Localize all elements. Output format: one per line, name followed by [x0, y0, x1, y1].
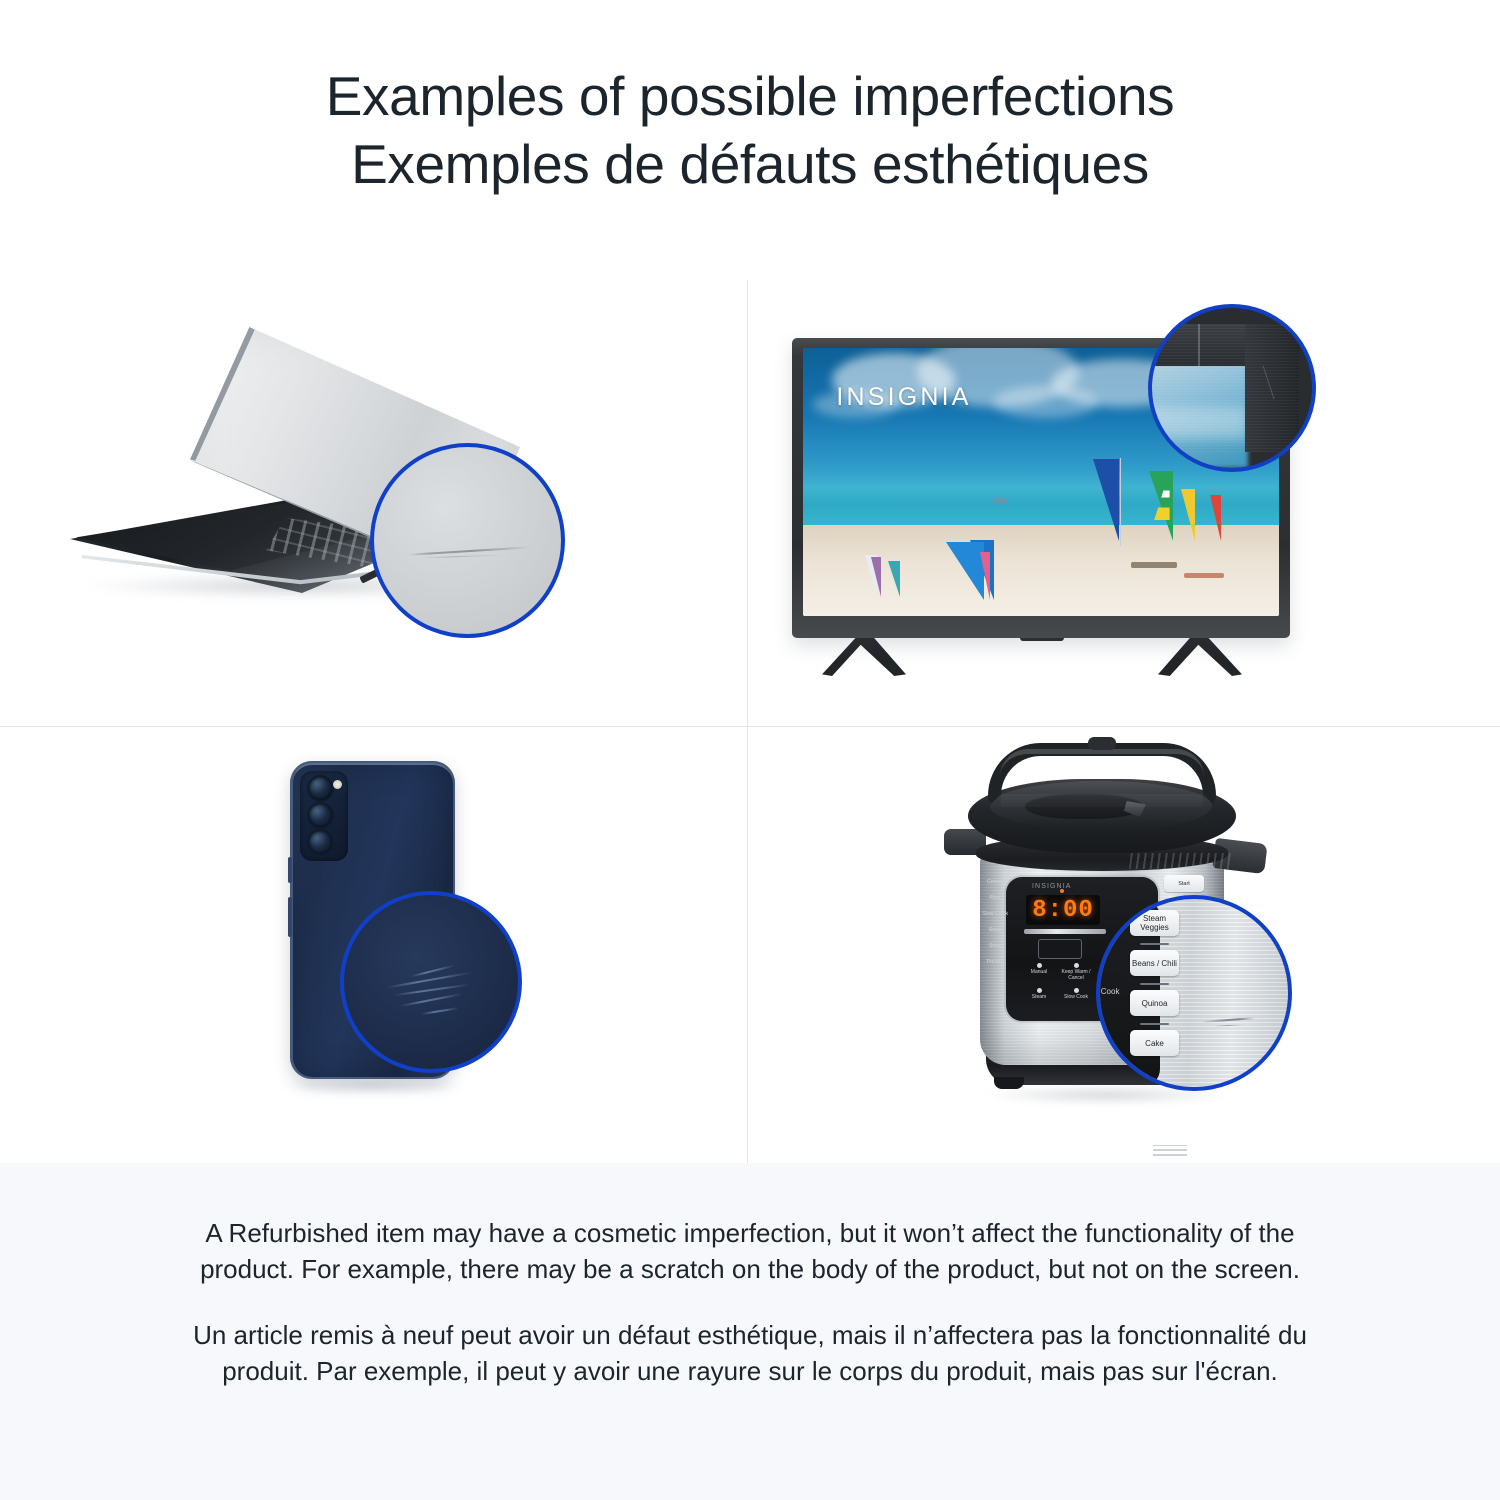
- cooker-button-keep-warm-cancel[interactable]: Keep Warm / Cancel: [1061, 963, 1091, 981]
- magnifier-circle-pressure-cooker: Delay Slow Cook Steam Veggies Beans / Ch…: [1096, 895, 1292, 1091]
- caption-english: A Refurbished item may have a cosmetic i…: [160, 1215, 1340, 1287]
- magnified-left-labels: Delay Slow Cook: [1096, 948, 1126, 998]
- phone-shadow: [277, 1077, 467, 1095]
- magnified-button-quinoa[interactable]: Quinoa: [1130, 990, 1179, 1016]
- sail-blue: [1089, 459, 1119, 541]
- bezel-grain-texture: [1148, 324, 1299, 452]
- catamaran-hull: [1131, 562, 1177, 568]
- product-examples-grid: INSIGNIA: [0, 280, 1500, 1163]
- magnifier-circle-laptop: [370, 443, 565, 638]
- led-indicator: [1074, 963, 1079, 968]
- cooker-left-label-column: Cereal Rice Slow Cook Soup Stew Poultry: [980, 879, 1010, 975]
- scratch-mark: [408, 546, 531, 556]
- beach-tent-teal: [882, 561, 900, 597]
- magnifier-circle-smartphone: [340, 891, 522, 1073]
- cooker-left-label: Cereal: [980, 879, 1010, 886]
- cooker-lid-handle-knob: [1088, 737, 1116, 750]
- footer-caption-panel: A Refurbished item may have a cosmetic i…: [0, 1163, 1500, 1500]
- example-cell-television: INSIGNIA: [748, 280, 1500, 727]
- bezel-seam-line: [1198, 324, 1200, 366]
- phone-volume-button: [288, 857, 292, 883]
- cooker-button-manual[interactable]: Manual: [1024, 963, 1054, 981]
- tv-screen-brand-label: INSIGNIA: [836, 383, 971, 412]
- cooker-pressure-selector-text: [1153, 1145, 1187, 1156]
- example-cell-smartphone: [0, 727, 748, 1163]
- cooker-left-label: Soup: [980, 927, 1010, 934]
- phone-power-button: [288, 897, 292, 937]
- page-header: Examples of possible imperfections Exemp…: [0, 0, 1500, 198]
- catamaran-hull: [1184, 573, 1224, 578]
- button-separator: [1140, 983, 1169, 985]
- cooker-mid-button-label: Slow Cook: [1064, 994, 1088, 1000]
- magnified-label: Delay: [1096, 948, 1126, 960]
- magnified-button-group: Steam Veggies Beans / Chili Quinoa Cake: [1130, 910, 1179, 1063]
- example-cell-laptop: [0, 280, 748, 727]
- smartphone-illustration: [0, 727, 747, 1163]
- led-indicator: [1037, 988, 1042, 993]
- led-indicator: [1074, 988, 1079, 993]
- cooker-mid-button-label: Keep Warm / Cancel: [1061, 969, 1091, 981]
- cooker-pressure-selector[interactable]: [1038, 939, 1082, 959]
- cooker-display-indicator: [1060, 889, 1064, 893]
- cooker-button-start[interactable]: Start: [1164, 875, 1204, 892]
- magnified-label: Slow Cook: [1096, 986, 1126, 998]
- distant-boat-speck: [993, 498, 1007, 503]
- caption-french: Un article remis à neuf peut avoir un dé…: [160, 1317, 1340, 1389]
- magnified-button-beans-chili[interactable]: Beans / Chili: [1130, 950, 1179, 976]
- led-indicator: [1037, 963, 1042, 968]
- tv-leg-right: [1158, 636, 1242, 676]
- cooker-left-label: Stew: [980, 943, 1010, 950]
- sail-yellow: [1179, 489, 1195, 541]
- cloud-shape: [993, 386, 1098, 418]
- camera-lens-icon: [309, 777, 332, 800]
- cooker-button-steam[interactable]: Steam: [1024, 988, 1054, 1000]
- camera-lens-icon: [309, 831, 332, 854]
- cooker-display-value: 8:00: [1032, 897, 1094, 924]
- page-title-fr: Exemples de défauts esthétiques: [0, 130, 1500, 198]
- sail-mast: [1120, 458, 1122, 546]
- tv-leg-left: [822, 636, 906, 676]
- cooker-button-slow-cook[interactable]: Slow Cook: [1061, 988, 1091, 1000]
- cooker-foot-left: [994, 1077, 1024, 1089]
- scratch-mark-secondary: [419, 555, 505, 559]
- scratch-mark: [421, 1007, 459, 1014]
- cooker-left-label: Rice: [980, 895, 1010, 902]
- camera-lens-icon: [309, 804, 332, 827]
- cooker-lid-label-text: [1129, 853, 1231, 869]
- cooker-mid-button-label: Manual: [1031, 969, 1047, 975]
- cooker-mode-strip: [1024, 929, 1106, 934]
- pressure-cooker-illustration: INSIGNIA 8:00 Manual: [748, 727, 1500, 1163]
- magnifier-circle-television: [1148, 304, 1316, 472]
- refurbished-imperfections-infographic: Examples of possible imperfections Exemp…: [0, 0, 1500, 1500]
- cooker-mid-button-label: Steam: [1032, 994, 1046, 1000]
- cooker-left-label: Poultry: [980, 959, 1010, 966]
- button-separator: [1140, 1023, 1169, 1025]
- sail-red: [1208, 495, 1221, 541]
- button-separator: [1140, 943, 1169, 945]
- page-title-en: Examples of possible imperfections: [0, 62, 1500, 130]
- scratch-mark: [400, 993, 462, 1007]
- cooker-lid-handle-highlight: [1000, 749, 1204, 777]
- laptop-illustration: [0, 280, 747, 726]
- camera-flash-icon: [333, 780, 342, 789]
- phone-camera-module: [300, 771, 348, 861]
- cooker-brand-label: INSIGNIA: [1032, 883, 1072, 890]
- television-illustration: INSIGNIA: [748, 280, 1500, 726]
- magnified-button-steam-veggies[interactable]: Steam Veggies: [1130, 910, 1179, 936]
- beach-tent-pink: [974, 552, 990, 600]
- example-cell-pressure-cooker: INSIGNIA 8:00 Manual: [748, 727, 1500, 1163]
- magnified-button-cake[interactable]: Cake: [1130, 1030, 1179, 1056]
- cooker-led-display: 8:00: [1026, 895, 1100, 925]
- beach-tent-purple: [865, 557, 881, 597]
- cooker-left-label: Slow Cook: [980, 911, 1010, 918]
